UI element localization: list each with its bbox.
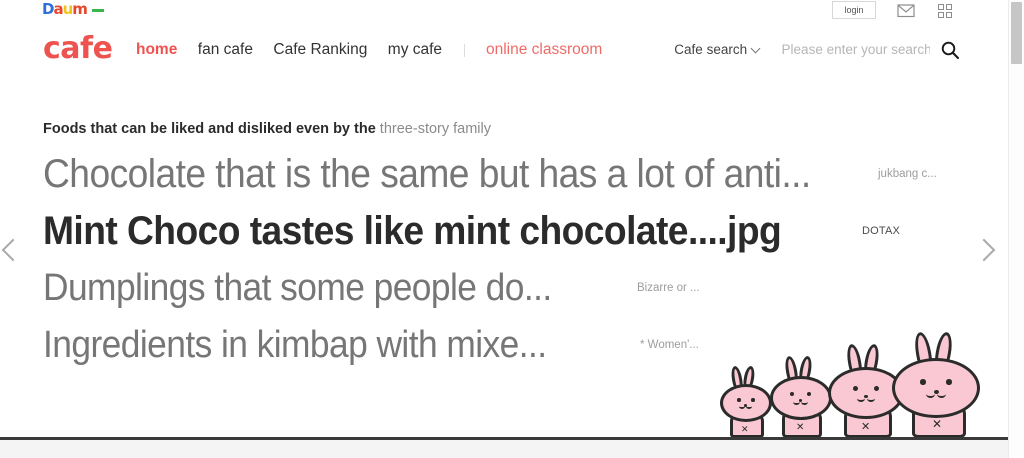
search-area: Cafe search [674,39,960,63]
scrollbar-thumb[interactable] [1011,2,1022,64]
page-bottom-rule [0,437,1008,440]
search-submit-button[interactable] [940,40,960,60]
nav-item-fan-cafe[interactable]: fan cafe [198,40,253,60]
ranking-cafe-name[interactable]: * Women'... [640,317,699,374]
daum-logo-letter-d: D [42,2,53,17]
ranking-row[interactable]: Dumplings that some people do... Bizarre… [0,260,1008,317]
carousel-next-arrow-icon[interactable] [975,232,1001,274]
hero-subject-normal: three-story family [376,121,491,137]
global-navigation: home fan cafe Cafe Ranking my cafe onlin… [136,40,618,62]
ranking-row[interactable]: Mint Choco tastes like mint chocolate...… [0,203,1008,260]
envelope-icon-svg [895,1,917,21]
browser-viewport: Daum login cafe home fan cafe Cafe Ranki… [0,0,1024,458]
ranking-cafe-name[interactable]: Bizarre or ... [637,260,700,317]
nav-item-my-cafe[interactable]: my cafe [388,40,442,60]
nav-item-online-classroom[interactable]: online classroom [486,40,602,60]
page-scrollbar[interactable] [1008,0,1024,458]
search-input[interactable] [782,39,930,61]
daum-logo-letter-m: m [72,2,87,17]
ranking-title[interactable]: Chocolate that is the same but has a lot… [43,146,811,203]
chevron-left-icon [2,239,25,262]
rabbit-mascot: ✕ [890,332,990,438]
daum-logo-letter-a: a [53,2,62,17]
nav-item-home[interactable]: home [136,40,177,60]
cafe-logo[interactable]: cafe [43,32,112,66]
nav-divider [464,44,465,57]
hero-subject-line: Foods that can be liked and disliked eve… [43,120,491,138]
daum-logo-letter-u: u [63,2,73,17]
grid-icon-shape [938,4,953,19]
apps-grid-icon[interactable] [934,1,956,21]
search-scope-label: Cafe search [674,42,747,57]
search-icon-svg [940,40,960,60]
ranking-title[interactable]: Ingredients in kimbap with mixe... [43,317,547,374]
login-button[interactable]: login [832,1,876,19]
daum-logo[interactable]: Daum [42,2,87,17]
ranking-title[interactable]: Mint Choco tastes like mint chocolate...… [43,203,781,260]
nav-item-cafe-ranking[interactable]: Cafe Ranking [273,40,367,60]
daum-logo-accent-bar [92,9,104,12]
carousel-prev-arrow-icon[interactable] [0,232,26,274]
hero-subject-bold: Foods that can be liked and disliked eve… [43,121,376,137]
search-scope-selector[interactable]: Cafe search [674,39,759,61]
ranking-row[interactable]: Chocolate that is the same but has a lot… [0,146,1008,203]
ranking-title[interactable]: Dumplings that some people do... [43,260,552,317]
utility-bar: Daum login [0,0,1008,26]
ranking-cafe-name[interactable]: DOTAX [862,203,900,260]
site-header: cafe home fan cafe Cafe Ranking my cafe … [0,28,1008,76]
mail-icon[interactable] [895,1,917,21]
ranking-cafe-name[interactable]: jukbang c... [878,146,937,203]
chevron-right-icon [973,239,996,262]
chevron-down-icon [751,43,761,53]
footer-strip [0,440,1008,458]
rabbit-mascot-group: ✕ ✕ ✕ [718,332,958,438]
